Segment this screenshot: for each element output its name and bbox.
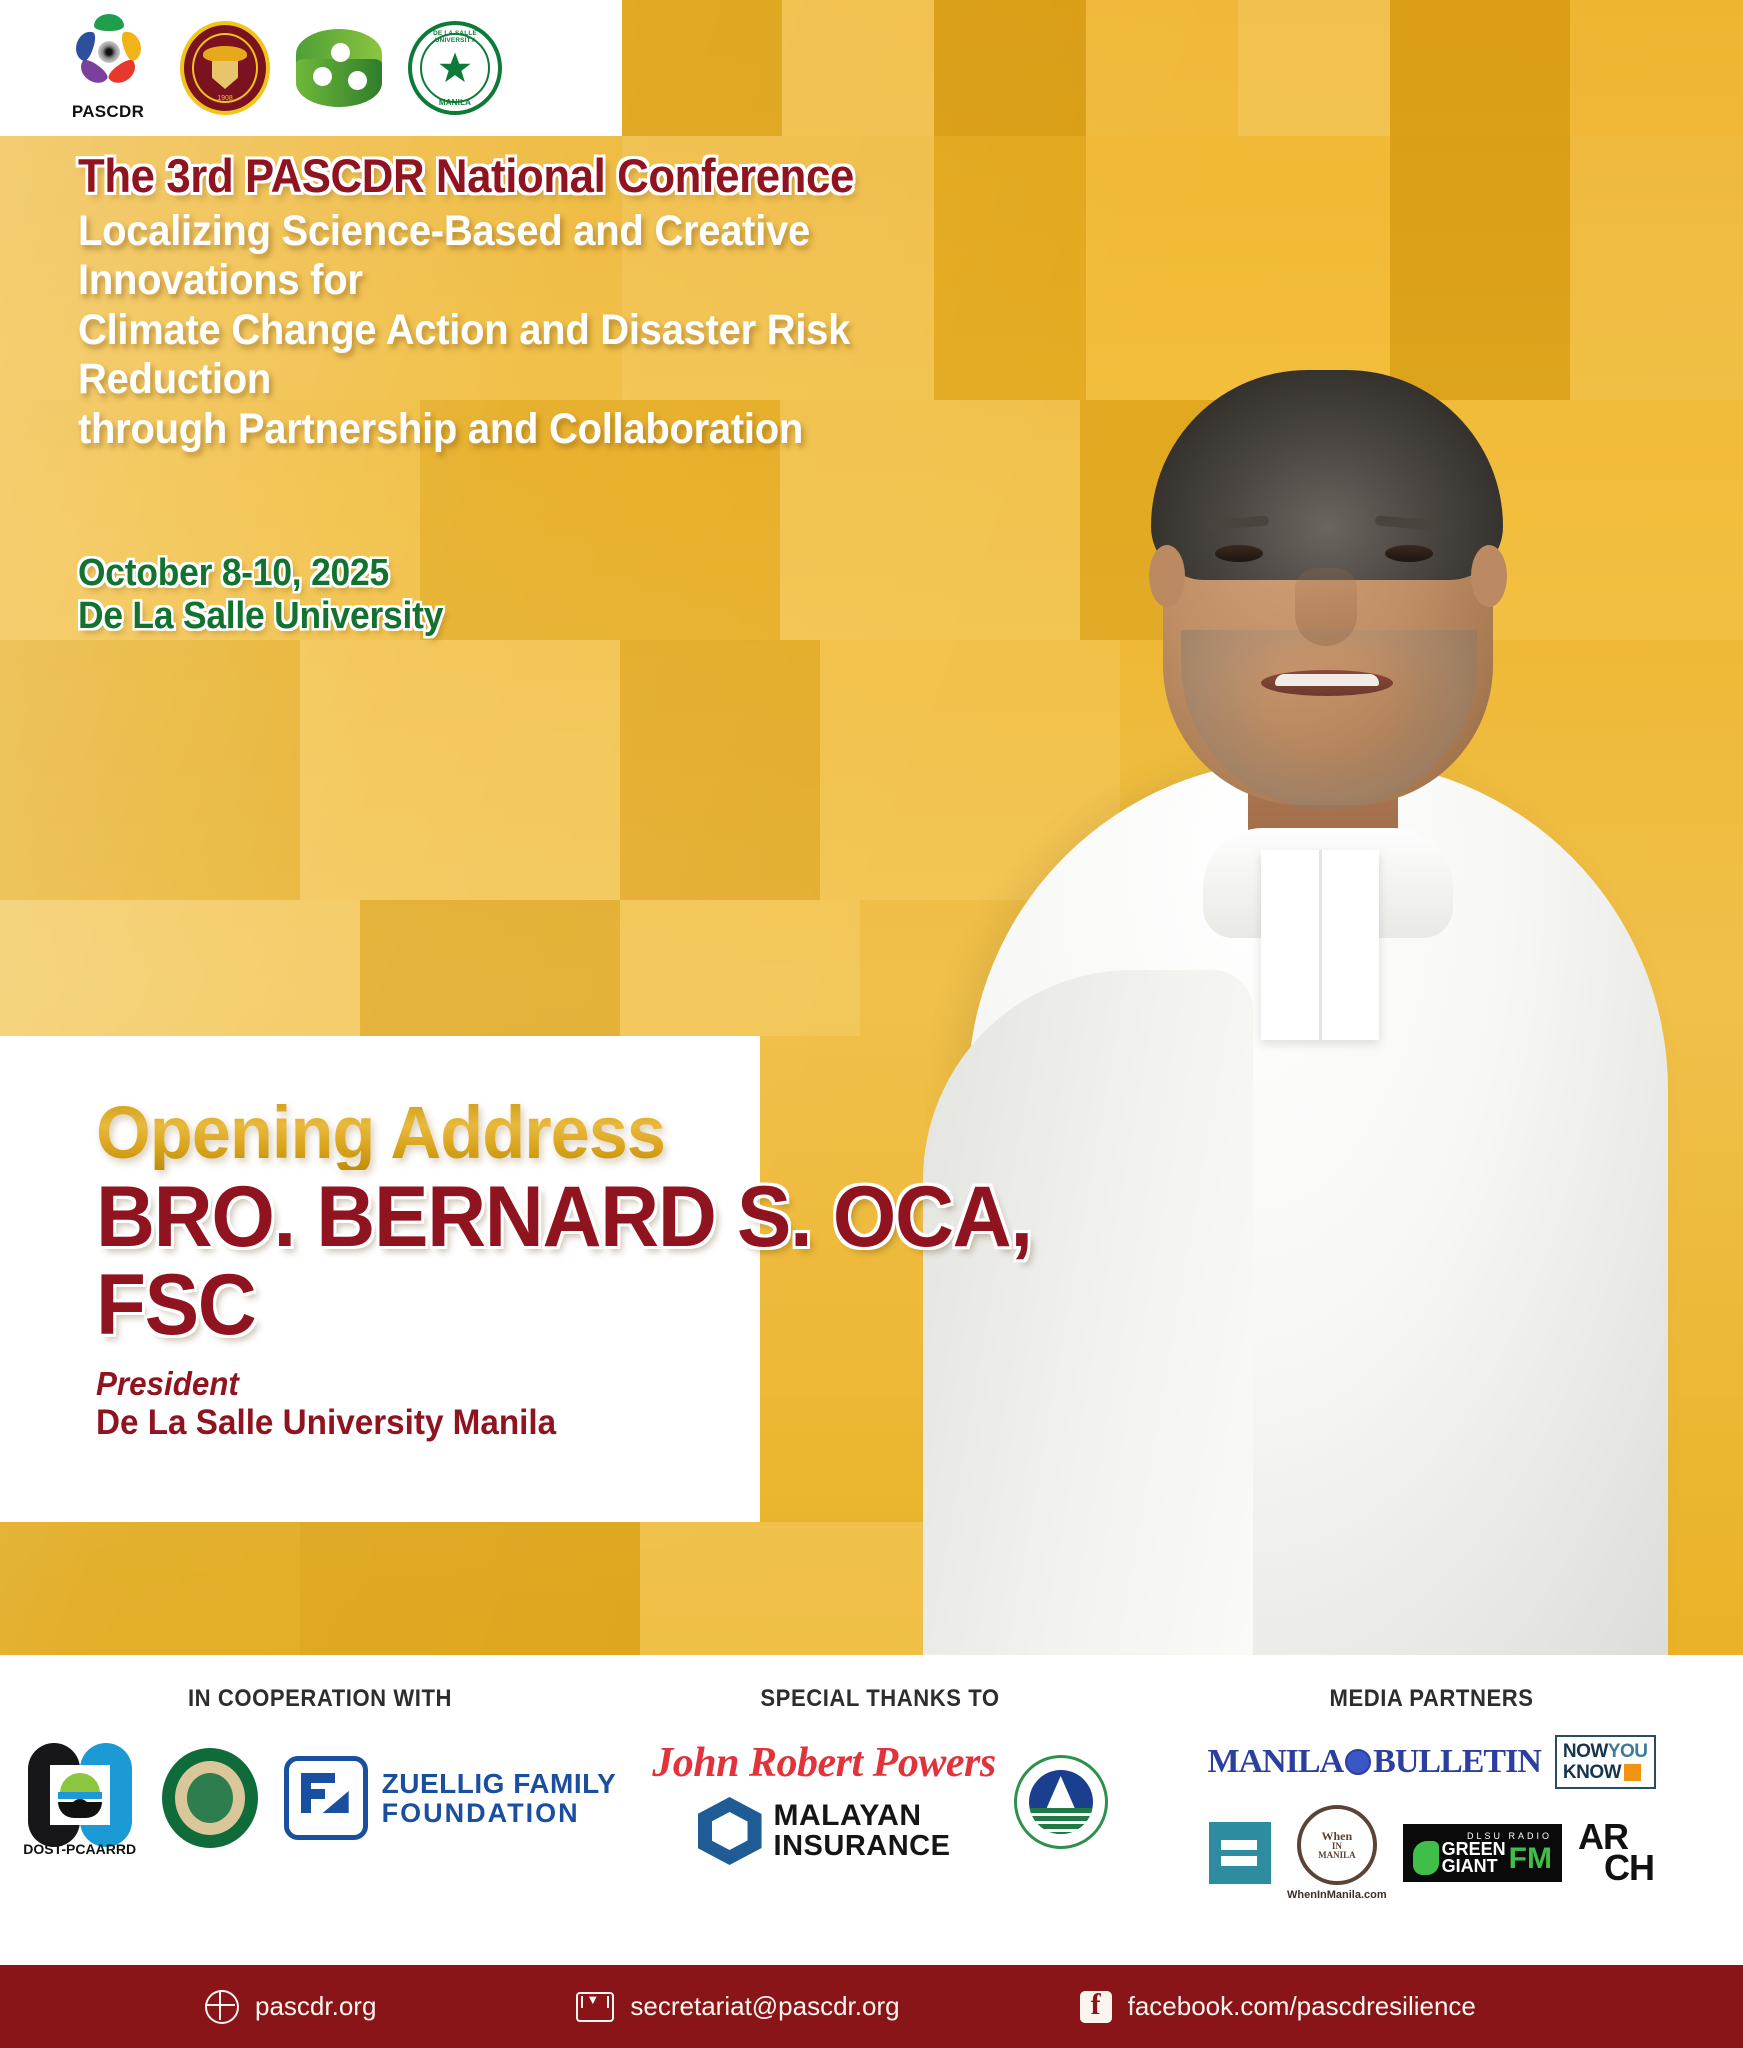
pascdr-logo-label: PASCDR <box>62 102 154 122</box>
orange-square-icon <box>1624 1764 1641 1781</box>
speaker-role: President <box>96 1365 1160 1403</box>
conference-title: The 3rd PASCDR National Conference <box>78 152 1008 201</box>
event-date-venue-block: October 8-10, 2025 De La Salle Universit… <box>78 552 471 637</box>
facebook-contact[interactable]: facebook.com/pascdresilience <box>1080 1991 1476 2023</box>
zuellig-family-foundation-logo: ZUELLIG FAMILY FOUNDATION <box>284 1756 617 1840</box>
zuellig-line1: ZUELLIG FAMILY <box>382 1769 617 1798</box>
globe-icon <box>1345 1749 1371 1775</box>
speaker-organization: De La Salle University Manila <box>96 1403 1160 1443</box>
email-address: secretariat@pascdr.org <box>630 1991 899 2022</box>
manila-bulletin-logo: MANILA BULLETIN <box>1207 1743 1540 1781</box>
speaker-photo <box>863 330 1743 1660</box>
facebook-icon <box>1080 1991 1112 2023</box>
star-icon <box>438 51 472 85</box>
partners-footer: IN COOPERATION WITH DOST-PCAARRD <box>0 1655 1743 1965</box>
john-robert-powers-logo: John Robert Powers <box>652 1739 995 1787</box>
green-giant-fm-logo: DLSU RADIO GREEN GIANT FM <box>1403 1824 1562 1882</box>
dino-icon <box>1413 1841 1439 1875</box>
title-block: The 3rd PASCDR National Conference Local… <box>78 152 1078 454</box>
dost-pcaarrd-logo: DOST-PCAARRD <box>24 1739 136 1857</box>
trinity-university-of-asia-logo <box>162 1748 258 1848</box>
up-seal-year: 1908 <box>217 95 233 102</box>
ggfm-word2: GIANT <box>1442 1858 1506 1875</box>
up-eagle-icon <box>203 46 247 62</box>
conference-subtitle-line3: through Partnership and Collaboration <box>78 405 1008 454</box>
pascdr-pinwheel-icon <box>68 14 148 92</box>
zuellig-line2: FOUNDATION <box>382 1799 617 1827</box>
malayan-line1: MALAYAN <box>774 1801 951 1832</box>
cooperation-section: IN COOPERATION WITH DOST-PCAARRD <box>0 1655 640 1901</box>
envelope-icon <box>576 1992 614 2022</box>
dlsu-seal-logo: DE LA SALLE UNIVERSITY MANILA <box>408 21 502 115</box>
media-partners-heading: MEDIA PARTNERS <box>1145 1685 1718 1713</box>
facebook-url: facebook.com/pascdresilience <box>1128 1991 1476 2022</box>
nyk-you: YOU <box>1608 1741 1648 1762</box>
conference-subtitle-line2: Climate Change Action and Disaster Risk … <box>78 306 1008 405</box>
wim-caption: WhenInManila.com <box>1287 1889 1387 1901</box>
malayan-line2: INSURANCE <box>774 1832 951 1862</box>
globe-icon <box>205 1990 239 2024</box>
dlsu-seal-bottom-text: MANILA <box>412 98 498 107</box>
manila-bulletin-left: MANILA <box>1207 1743 1343 1781</box>
speaker-name: BRO. BERNARD S. OCA, FSC <box>96 1174 1160 1349</box>
nyk-know: KNOW <box>1563 1763 1621 1782</box>
malayan-insurance-logo: MALAYAN INSURANCE <box>698 1797 951 1865</box>
wim-line3: MANILA <box>1318 1851 1356 1860</box>
media-partners-section: MEDIA PARTNERS MANILA BULLETIN NOWYOU KN… <box>1120 1655 1743 1901</box>
denr-logo <box>1014 1755 1108 1849</box>
conference-subtitle-line1: Localizing Science-Based and Creative In… <box>78 207 1008 306</box>
malayan-hex-icon <box>698 1797 762 1865</box>
when-in-manila-logo: When IN MANILA <box>1297 1805 1377 1885</box>
green-swirl-logo <box>296 27 382 109</box>
manila-bulletin-right: BULLETIN <box>1373 1743 1541 1781</box>
dost-pcaarrd-label: DOST-PCAARRD <box>18 1841 142 1857</box>
conference-poster: PASCDR 1908 DE LA SALLE UNIVERSITY MA <box>0 0 1743 2048</box>
up-shield-icon <box>212 61 238 89</box>
website-url: pascdr.org <box>255 1991 376 2022</box>
arch-logo: AR CH <box>1578 1822 1654 1884</box>
pascdr-logo: PASCDR <box>62 14 154 122</box>
session-segment-label: Opening Address <box>96 1096 1160 1170</box>
now-you-know-logo: NOWYOU KNOW <box>1555 1735 1656 1789</box>
header-logo-strip: PASCDR 1908 DE LA SALLE UNIVERSITY MA <box>0 0 622 136</box>
esquire-logo <box>1209 1822 1271 1884</box>
up-seal-logo: 1908 <box>180 21 270 115</box>
website-contact[interactable]: pascdr.org <box>205 1990 376 2024</box>
nyk-now: NOW <box>1563 1741 1608 1762</box>
speaker-block: Opening Address BRO. BERNARD S. OCA, FSC… <box>96 1096 1216 1444</box>
special-thanks-heading: SPECIAL THANKS TO <box>659 1685 1101 1713</box>
ggfm-fm: FM <box>1509 1845 1552 1872</box>
special-thanks-section: SPECIAL THANKS TO John Robert Powers MAL… <box>640 1655 1120 1901</box>
zuellig-mark-icon <box>284 1756 368 1840</box>
contact-bar: pascdr.org secretariat@pascdr.org facebo… <box>0 1965 1743 2048</box>
event-dates: October 8-10, 2025 <box>78 552 443 595</box>
cooperation-heading: IN COOPERATION WITH <box>26 1685 615 1713</box>
email-contact[interactable]: secretariat@pascdr.org <box>576 1991 899 2022</box>
arch-line2: CH <box>1604 1853 1654 1884</box>
event-venue: De La Salle University <box>78 595 443 638</box>
